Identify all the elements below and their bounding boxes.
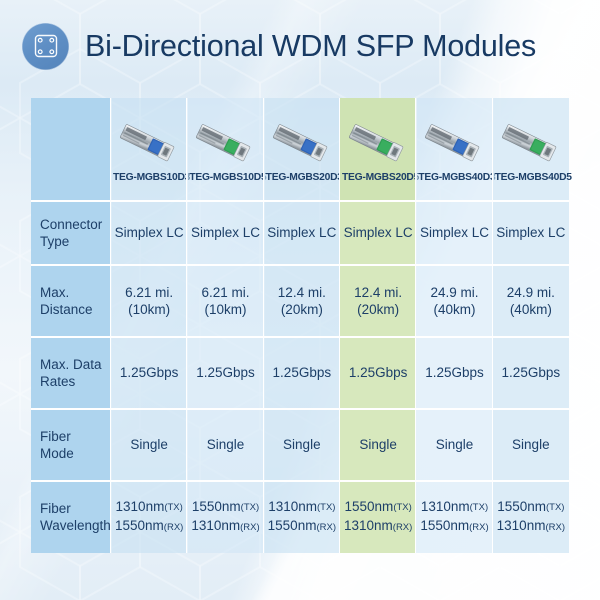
- cell-wavelength-4: 1310nm(TX) 1550nm(RX): [416, 481, 492, 553]
- cell-distance-5: 24.9 mi. (40km): [493, 265, 569, 337]
- cell-mode-5: Single: [493, 409, 569, 481]
- product-column-5[interactable]: TEG-MGBS40D5: [493, 98, 569, 201]
- wavelength-tx-3: 1550nm(TX): [340, 498, 416, 518]
- distance-km-5: (40km): [493, 301, 569, 319]
- product-image-0: [113, 118, 185, 170]
- wavelength-tx-2: 1310nm(TX): [264, 498, 340, 518]
- cell-rates-4: 1.25Gbps: [416, 337, 492, 409]
- product-comparison-page: Bi-Directional WDM SFP Modules: [0, 0, 600, 600]
- product-column-4[interactable]: TEG-MGBS40D3: [416, 98, 492, 201]
- product-column-2[interactable]: TEG-MGBS20D3: [264, 98, 340, 201]
- cell-rates-5: 1.25Gbps: [493, 337, 569, 409]
- distance-miles-5: 24.9 mi.: [493, 284, 569, 302]
- distance-km-1: (10km): [187, 301, 263, 319]
- page-header: Bi-Directional WDM SFP Modules: [0, 0, 600, 92]
- row-label-line2: Type: [40, 233, 111, 250]
- distance-km-0: (10km): [111, 301, 187, 319]
- cell-wavelength-0: 1310nm(TX) 1550nm(RX): [111, 481, 187, 553]
- wavelength-rx-2: 1550nm(RX): [264, 517, 340, 537]
- table-corner-cell: [31, 98, 111, 201]
- row-label-max-distance: Max. Distance: [31, 265, 111, 337]
- cell-rates-3: 1.25Gbps: [340, 337, 416, 409]
- cell-distance-0: 6.21 mi. (10km): [111, 265, 187, 337]
- cell-distance-2: 12.4 mi. (20km): [264, 265, 340, 337]
- product-header-row: TEG-MGBS10D3: [31, 98, 569, 201]
- row-label-max-data-rates: Max. Data Rates: [31, 337, 111, 409]
- sfp-module-icon: [22, 23, 69, 70]
- specification-table: TEG-MGBS10D3: [31, 98, 569, 553]
- row-label-fiber-wavelength: Fiber Wavelength: [31, 481, 111, 553]
- product-image-3: [342, 118, 414, 170]
- product-name-0: TEG-MGBS10D3: [113, 172, 185, 183]
- table-row-fiber-mode: Fiber Mode Single Single Single Single S…: [31, 409, 569, 481]
- distance-miles-3: 12.4 mi.: [340, 284, 416, 302]
- cell-connector-1: Simplex LC: [187, 201, 263, 265]
- cell-mode-1: Single: [187, 409, 263, 481]
- cell-mode-0: Single: [111, 409, 187, 481]
- table-row-connector-type: Connector Type Simplex LC Simplex LC Sim…: [31, 201, 569, 265]
- wavelength-rx-4: 1550nm(RX): [416, 517, 492, 537]
- distance-miles-2: 12.4 mi.: [264, 284, 340, 302]
- cell-mode-3: Single: [340, 409, 416, 481]
- cell-connector-0: Simplex LC: [111, 201, 187, 265]
- row-label-line2: Distance: [40, 301, 111, 318]
- distance-km-3: (20km): [340, 301, 416, 319]
- cell-wavelength-1: 1550nm(TX) 1310nm(RX): [187, 481, 263, 553]
- cell-distance-1: 6.21 mi. (10km): [187, 265, 263, 337]
- wavelength-rx-0: 1550nm(RX): [111, 517, 187, 537]
- cell-wavelength-5: 1550nm(TX) 1310nm(RX): [493, 481, 569, 553]
- row-label-connector-type: Connector Type: [31, 201, 111, 265]
- product-image-2: [266, 118, 338, 170]
- cell-wavelength-2: 1310nm(TX) 1550nm(RX): [264, 481, 340, 553]
- cell-rates-1: 1.25Gbps: [187, 337, 263, 409]
- product-name-3: TEG-MGBS20D5: [342, 172, 414, 183]
- cell-connector-2: Simplex LC: [264, 201, 340, 265]
- page-title: Bi-Directional WDM SFP Modules: [85, 29, 536, 64]
- cell-distance-4: 24.9 mi. (40km): [416, 265, 492, 337]
- product-image-5: [495, 118, 567, 170]
- cell-rates-0: 1.25Gbps: [111, 337, 187, 409]
- wavelength-tx-4: 1310nm(TX): [416, 498, 492, 518]
- product-column-0[interactable]: TEG-MGBS10D3: [111, 98, 187, 201]
- distance-miles-4: 24.9 mi.: [416, 284, 492, 302]
- row-label-line1: Fiber: [40, 428, 111, 445]
- cell-connector-5: Simplex LC: [493, 201, 569, 265]
- cell-mode-4: Single: [416, 409, 492, 481]
- product-column-3[interactable]: TEG-MGBS20D5: [340, 98, 416, 201]
- row-label-line1: Fiber: [40, 500, 111, 517]
- row-label-line1: Max.: [40, 284, 111, 301]
- cell-wavelength-3: 1550nm(TX) 1310nm(RX): [340, 481, 416, 553]
- row-label-fiber-mode: Fiber Mode: [31, 409, 111, 481]
- cell-rates-2: 1.25Gbps: [264, 337, 340, 409]
- row-label-line2: Rates: [40, 373, 111, 390]
- cell-distance-3: 12.4 mi. (20km): [340, 265, 416, 337]
- row-label-line2: Mode: [40, 445, 111, 462]
- wavelength-tx-1: 1550nm(TX): [187, 498, 263, 518]
- table-row-max-data-rates: Max. Data Rates 1.25Gbps 1.25Gbps 1.25Gb…: [31, 337, 569, 409]
- product-image-4: [418, 118, 490, 170]
- distance-miles-0: 6.21 mi.: [111, 284, 187, 302]
- product-name-5: TEG-MGBS40D5: [495, 172, 567, 183]
- cell-connector-4: Simplex LC: [416, 201, 492, 265]
- row-label-line2: Wavelength: [40, 517, 111, 534]
- table-row-fiber-wavelength: Fiber Wavelength 1310nm(TX) 1550nm(RX) 1…: [31, 481, 569, 553]
- product-name-2: TEG-MGBS20D3: [266, 172, 338, 183]
- product-image-1: [189, 118, 261, 170]
- product-name-1: TEG-MGBS10D5: [189, 172, 261, 183]
- product-name-4: TEG-MGBS40D3: [418, 172, 490, 183]
- wavelength-rx-3: 1310nm(RX): [340, 517, 416, 537]
- wavelength-tx-0: 1310nm(TX): [111, 498, 187, 518]
- row-label-line1: Max. Data: [40, 356, 111, 373]
- product-column-1[interactable]: TEG-MGBS10D5: [187, 98, 263, 201]
- wavelength-rx-5: 1310nm(RX): [493, 517, 569, 537]
- distance-km-2: (20km): [264, 301, 340, 319]
- wavelength-tx-5: 1550nm(TX): [493, 498, 569, 518]
- row-label-line1: Connector: [40, 216, 111, 233]
- distance-km-4: (40km): [416, 301, 492, 319]
- distance-miles-1: 6.21 mi.: [187, 284, 263, 302]
- wavelength-rx-1: 1310nm(RX): [187, 517, 263, 537]
- cell-mode-2: Single: [264, 409, 340, 481]
- cell-connector-3: Simplex LC: [340, 201, 416, 265]
- table-row-max-distance: Max. Distance 6.21 mi. (10km) 6.21 mi. (…: [31, 265, 569, 337]
